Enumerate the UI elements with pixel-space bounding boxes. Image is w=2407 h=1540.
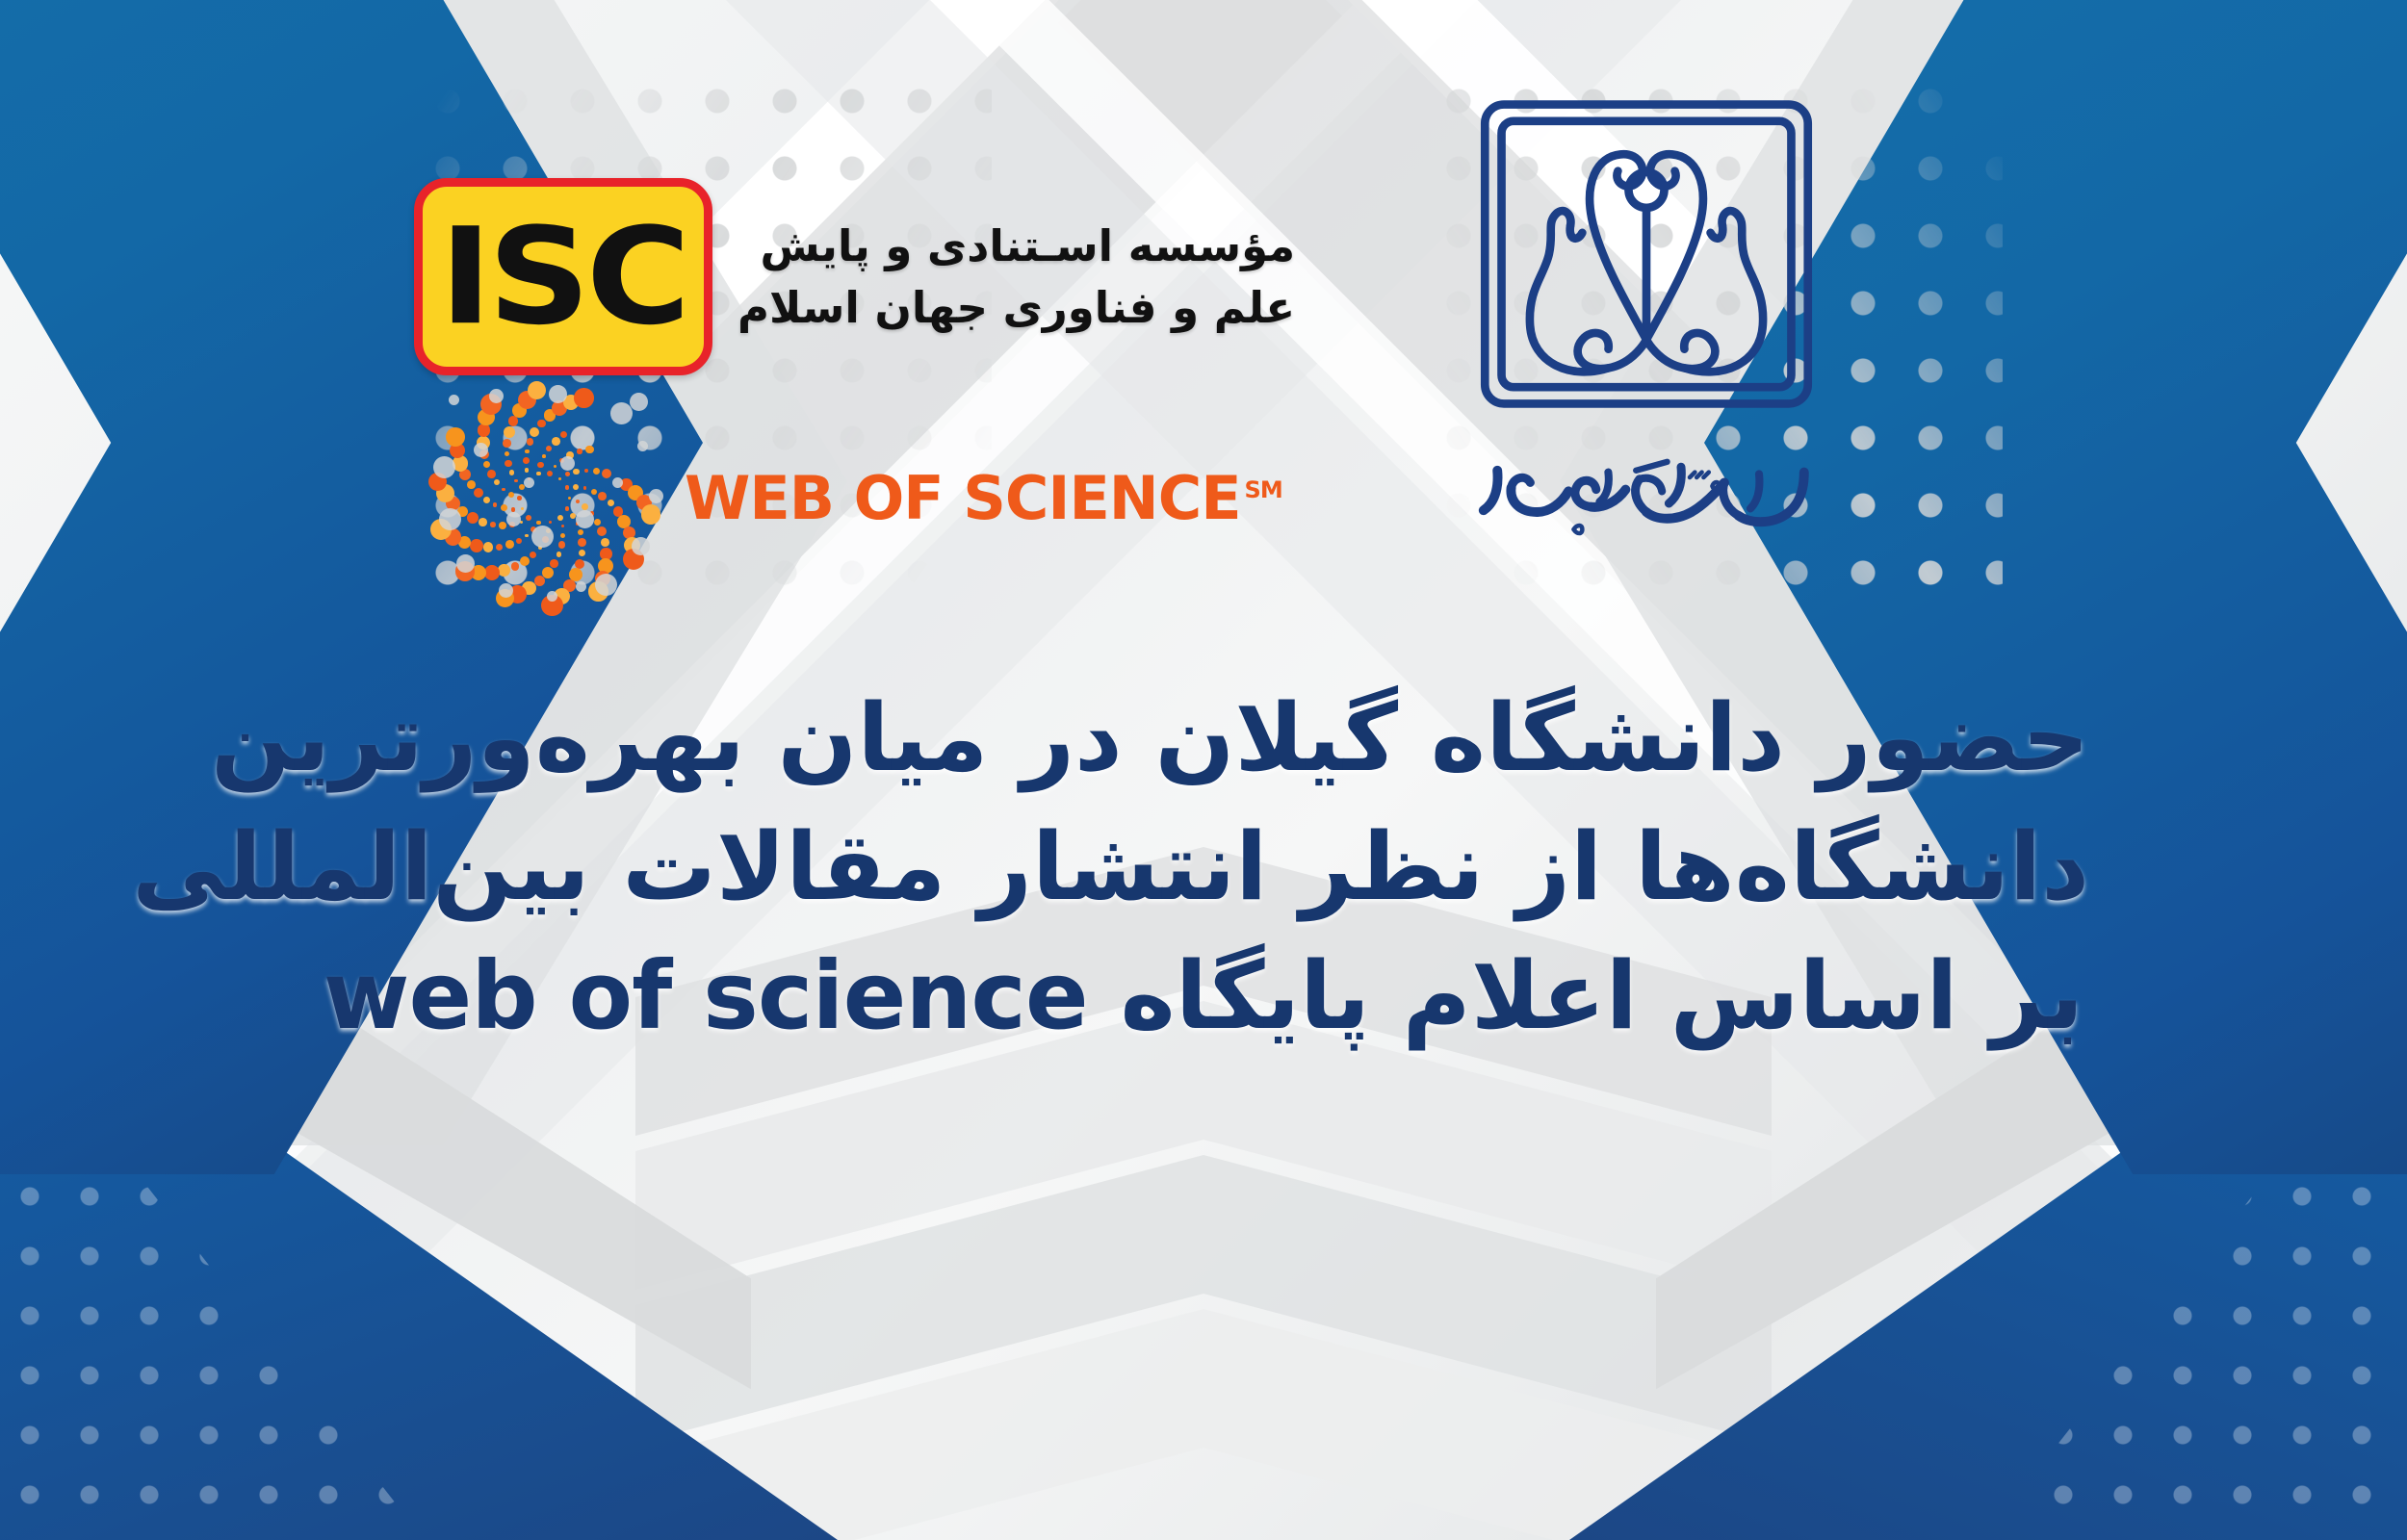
wos-dot: [582, 503, 588, 510]
wos-dot: [508, 492, 514, 498]
title-line-3-rtl: بر اساس اعلام پایگاه: [1121, 941, 2084, 1050]
wos-dot: [511, 507, 516, 512]
logo-row: مؤسسه اسـتنادی و پایش علم و فناوری جهان …: [0, 0, 2407, 635]
wos-dot: [525, 534, 529, 538]
title-line-2: دانشگاه‌ها از نظر انتشار مقالات بین‌المل…: [318, 803, 2089, 932]
wos-dot: [499, 522, 506, 529]
wos-dot: [536, 472, 541, 476]
wos-dot: [526, 515, 531, 521]
wos-dot: [558, 541, 566, 549]
poster-canvas: مؤسسه اسـتنادی و پایش علم و فناوری جهان …: [0, 0, 2407, 1540]
wos-dot: [565, 485, 570, 490]
isc-caption-line2: علم و فناوری جهان اسلام: [738, 277, 1295, 339]
wos-dot: [528, 381, 546, 399]
wos-dot-gray: [610, 402, 633, 424]
isc-wordmark: ISC: [440, 210, 687, 344]
title-line-1: حضور دانشگاه گیلان در میان بهره‌ورترین: [318, 674, 2089, 803]
wos-dot: [504, 426, 515, 438]
wos-dot: [487, 470, 496, 478]
wos-dot: [583, 486, 587, 490]
wos-dot: [578, 538, 586, 547]
wos-dot: [537, 462, 543, 468]
wos-dot: [608, 500, 614, 506]
wos-dot: [597, 526, 607, 536]
wos-dot-gray: [630, 393, 648, 411]
wos-dot: [525, 449, 529, 453]
wos-dot: [505, 451, 510, 457]
wos-dot: [516, 538, 522, 544]
wos-dot-gray: [449, 395, 459, 405]
wos-dot: [585, 446, 594, 454]
web-of-science-dot-mark: [431, 385, 658, 611]
wos-dot: [573, 484, 579, 490]
wos-dot: [558, 477, 561, 480]
wos-dot: [483, 542, 493, 552]
wos-dot: [483, 461, 490, 468]
wos-dot: [530, 552, 536, 558]
wos-dot: [536, 521, 541, 526]
wos-dot-gray: [524, 477, 534, 488]
wos-dot: [479, 518, 487, 526]
wos-dot-gray: [549, 385, 567, 403]
wos-dot: [502, 488, 505, 492]
wos-dot: [560, 533, 565, 538]
wos-dot: [550, 559, 558, 568]
wos-dot: [547, 471, 553, 476]
wos-dot: [556, 552, 562, 557]
wos-dot: [549, 521, 552, 524]
wos-dot-gray: [506, 512, 521, 526]
title-line-3-latin: web of science: [324, 941, 1088, 1050]
wos-dot: [546, 446, 552, 451]
wos-dot-gray: [649, 489, 663, 503]
wos-dot: [527, 438, 533, 445]
wos-dot-gray: [595, 574, 617, 596]
wos-dot: [501, 504, 507, 511]
gilan-university-caption: [1444, 451, 1849, 555]
wos-dot: [560, 431, 567, 438]
wos-dot-gray: [547, 591, 557, 602]
wos-dot: [565, 472, 570, 476]
wos-dot: [521, 507, 524, 510]
wos-dot: [478, 423, 490, 436]
wos-dot: [505, 540, 514, 549]
wos-dot-gray: [439, 508, 461, 530]
wos-dot-gray: [560, 456, 575, 471]
wos-dot: [517, 496, 522, 500]
wos-dot: [565, 506, 570, 511]
wos-dot: [568, 497, 571, 500]
wos-dot-gray: [489, 389, 504, 403]
web-of-science-logo: WEB OF SCIENCESM: [431, 385, 1282, 611]
wos-dot: [523, 457, 530, 464]
wos-dot: [542, 454, 546, 458]
wos-dot: [503, 439, 511, 448]
wos-dot: [490, 522, 496, 527]
wos-dot: [598, 492, 607, 500]
wos-dot: [509, 470, 514, 475]
wos-dot-gray: [576, 510, 594, 528]
wos-dot: [578, 529, 583, 535]
gilan-university-logo: [1444, 87, 1849, 587]
wos-dot: [579, 550, 585, 556]
wos-dot-gray: [456, 554, 475, 573]
wos-dot-gray: [632, 537, 650, 555]
wos-dot: [554, 465, 556, 468]
wos-dot: [602, 469, 611, 478]
wos-dot: [594, 519, 601, 526]
wos-dot: [576, 500, 581, 504]
wos-dot: [557, 515, 563, 521]
wos-dot: [561, 525, 564, 527]
wos-dot-gray: [531, 526, 554, 548]
web-of-science-text: WEB OF SCIENCE: [685, 463, 1241, 533]
title-line-3: بر اساس اعلام پایگاه web of science: [318, 932, 2089, 1061]
wos-dot: [584, 469, 588, 473]
wos-dot: [474, 488, 483, 498]
wos-dot: [530, 427, 539, 437]
isc-caption-line1: مؤسسه اسـتنادی و پایش: [738, 216, 1295, 277]
wos-dot: [520, 556, 530, 566]
wos-dot: [591, 489, 597, 495]
wos-dot: [467, 480, 476, 489]
wos-dot: [467, 512, 479, 524]
wos-dot: [537, 420, 546, 428]
wos-dot: [514, 479, 517, 482]
wos-dot: [483, 497, 490, 503]
wos-dot: [573, 469, 580, 475]
service-mark: SM: [1245, 476, 1282, 503]
isc-logo: مؤسسه اسـتنادی و پایش علم و فناوری جهان …: [414, 178, 1295, 375]
web-of-science-wordmark: WEB OF SCIENCESM: [685, 469, 1282, 528]
wos-dot: [593, 468, 600, 475]
wos-dot-gray: [612, 477, 623, 488]
wos-dot: [577, 449, 582, 454]
wos-dot-gray: [637, 441, 648, 451]
wos-dot: [505, 460, 512, 468]
wos-dot: [470, 539, 483, 552]
wos-dot: [525, 468, 530, 473]
wos-dot: [552, 437, 560, 446]
gilan-emblem-icon: [1468, 87, 1825, 457]
wos-dot: [508, 416, 519, 426]
wos-dot: [493, 502, 497, 506]
wos-dot-gray: [433, 456, 455, 478]
isc-badge: ISC: [414, 178, 712, 375]
wos-dot: [498, 564, 509, 576]
poster-title: حضور دانشگاه گیلان در میان بهره‌ورترین د…: [0, 674, 2407, 1061]
wos-dot: [641, 504, 661, 525]
isc-caption: مؤسسه اسـتنادی و پایش علم و فناوری جهان …: [738, 216, 1295, 339]
wos-dot-gray: [474, 443, 488, 457]
wos-dot: [511, 562, 520, 571]
wos-dot: [601, 538, 609, 547]
wos-dot-gray: [499, 583, 513, 598]
wos-dot-gray: [576, 581, 586, 592]
wos-dot: [496, 544, 503, 551]
wos-dot: [574, 388, 594, 408]
wos-dot: [494, 479, 500, 485]
